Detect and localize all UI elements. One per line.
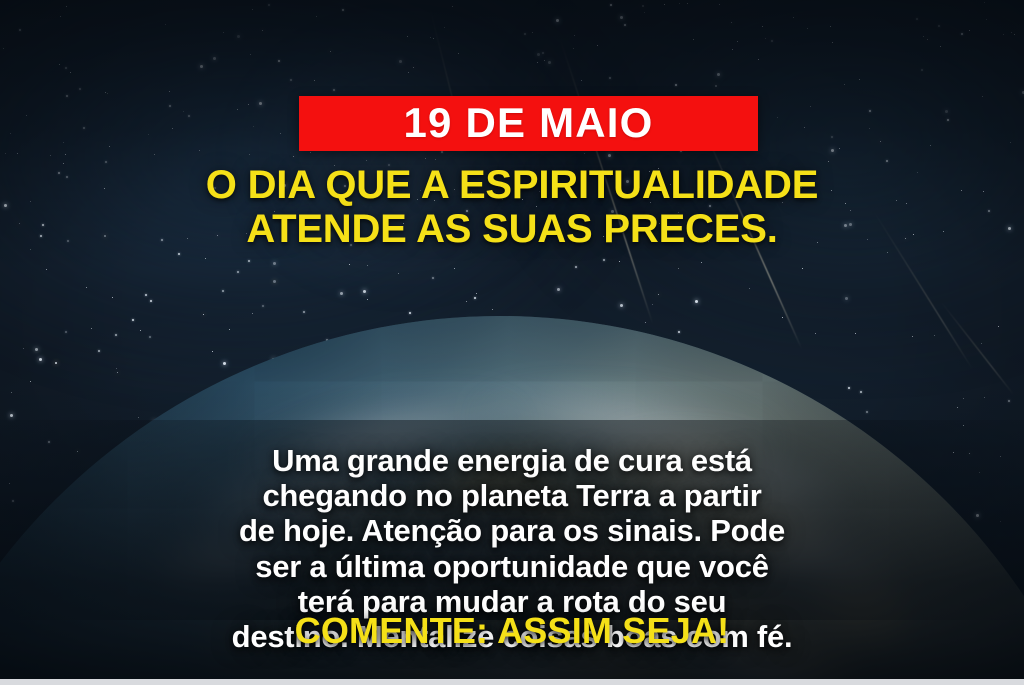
body-line-3: de hoje. Atenção para os sinais. Pode [48,513,976,548]
headline: O DIA QUE A ESPIRITUALIDADE ATENDE AS SU… [0,164,1024,251]
bottom-edge-bar [0,679,1024,685]
body-line-1: Uma grande energia de cura está [48,443,976,478]
poster-canvas: 19 DE MAIO O DIA QUE A ESPIRITUALIDADE A… [0,0,1024,685]
call-to-action: COMENTE: ASSIM SEJA! [0,613,1024,649]
call-to-action-label: COMENTE: ASSIM SEJA! [295,610,730,651]
headline-line-2: ATENDE AS SUAS PRECES. [40,208,984,252]
body-line-2: chegando no planeta Terra a partir [48,478,976,513]
date-badge: 19 DE MAIO [299,96,758,151]
headline-line-1: O DIA QUE A ESPIRITUALIDADE [40,164,984,208]
poster-content: 19 DE MAIO O DIA QUE A ESPIRITUALIDADE A… [0,0,1024,685]
body-line-4: ser a última oportunidade que você [48,549,976,584]
date-badge-label: 19 DE MAIO [403,102,653,144]
